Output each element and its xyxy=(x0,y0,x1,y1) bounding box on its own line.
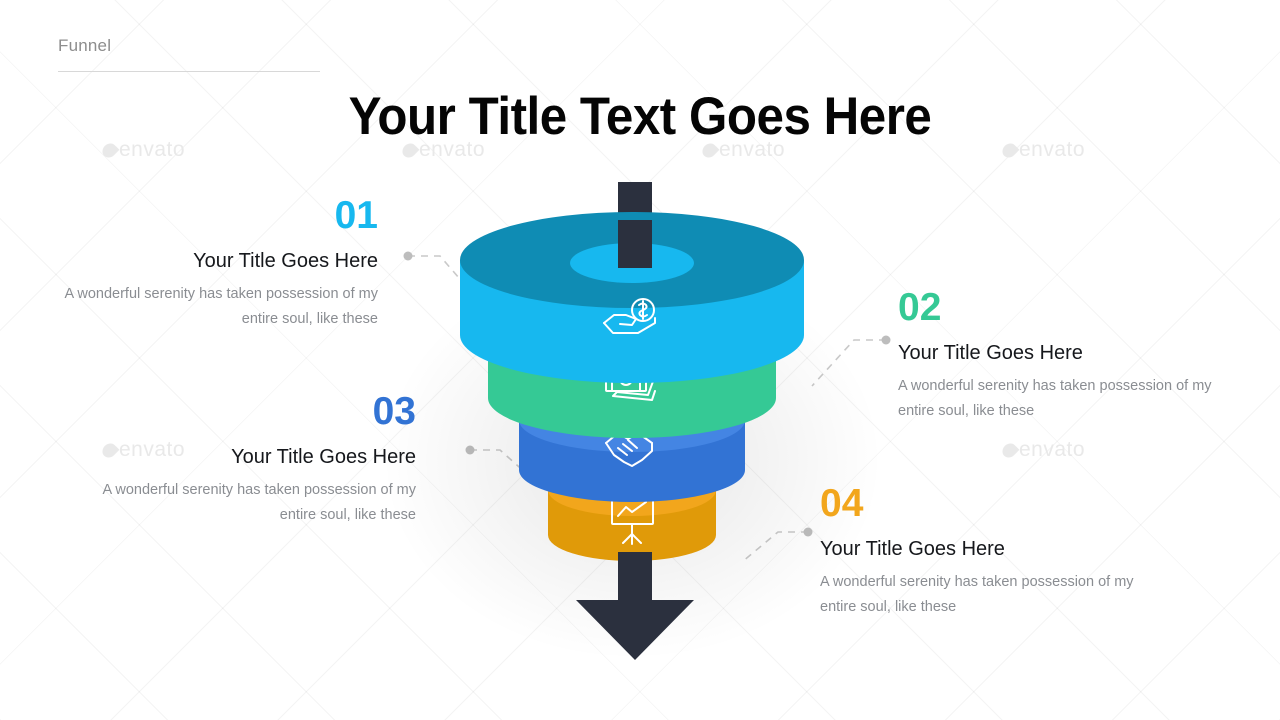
step-number: 01 xyxy=(58,196,378,235)
step-number: 03 xyxy=(98,392,416,431)
step-description: A wonderful serenity has taken possessio… xyxy=(58,282,378,332)
funnel-tier-01[interactable] xyxy=(460,212,804,383)
step-title: Your Title Goes Here xyxy=(98,445,416,469)
step-title: Your Title Goes Here xyxy=(820,537,1150,561)
brand-label: Funnel xyxy=(58,36,111,56)
page-title: Your Title Text Goes Here xyxy=(45,86,1235,147)
step-title: Your Title Goes Here xyxy=(898,341,1228,365)
funnel-step-03[interactable]: 03 Your Title Goes Here A wonderful sere… xyxy=(98,392,416,528)
funnel-step-04[interactable]: 04 Your Title Goes Here A wonderful sere… xyxy=(820,484,1150,620)
watermark-logo: envato xyxy=(1003,438,1085,462)
step-description: A wonderful serenity has taken possessio… xyxy=(98,478,416,528)
funnel-step-01[interactable]: 01 Your Title Goes Here A wonderful sere… xyxy=(58,196,378,332)
watermark-text: envato xyxy=(1019,438,1085,462)
step-description: A wonderful serenity has taken possessio… xyxy=(898,374,1228,424)
funnel-rod-through-hole xyxy=(618,220,652,268)
funnel-step-02[interactable]: 02 Your Title Goes Here A wonderful sere… xyxy=(898,288,1228,424)
step-number: 04 xyxy=(820,484,1150,523)
step-description: A wonderful serenity has taken possessio… xyxy=(820,570,1150,620)
step-title: Your Title Goes Here xyxy=(58,249,378,273)
envato-drop-icon xyxy=(1000,440,1020,460)
step-number: 02 xyxy=(898,288,1228,327)
brand-underline-divider xyxy=(58,71,320,72)
